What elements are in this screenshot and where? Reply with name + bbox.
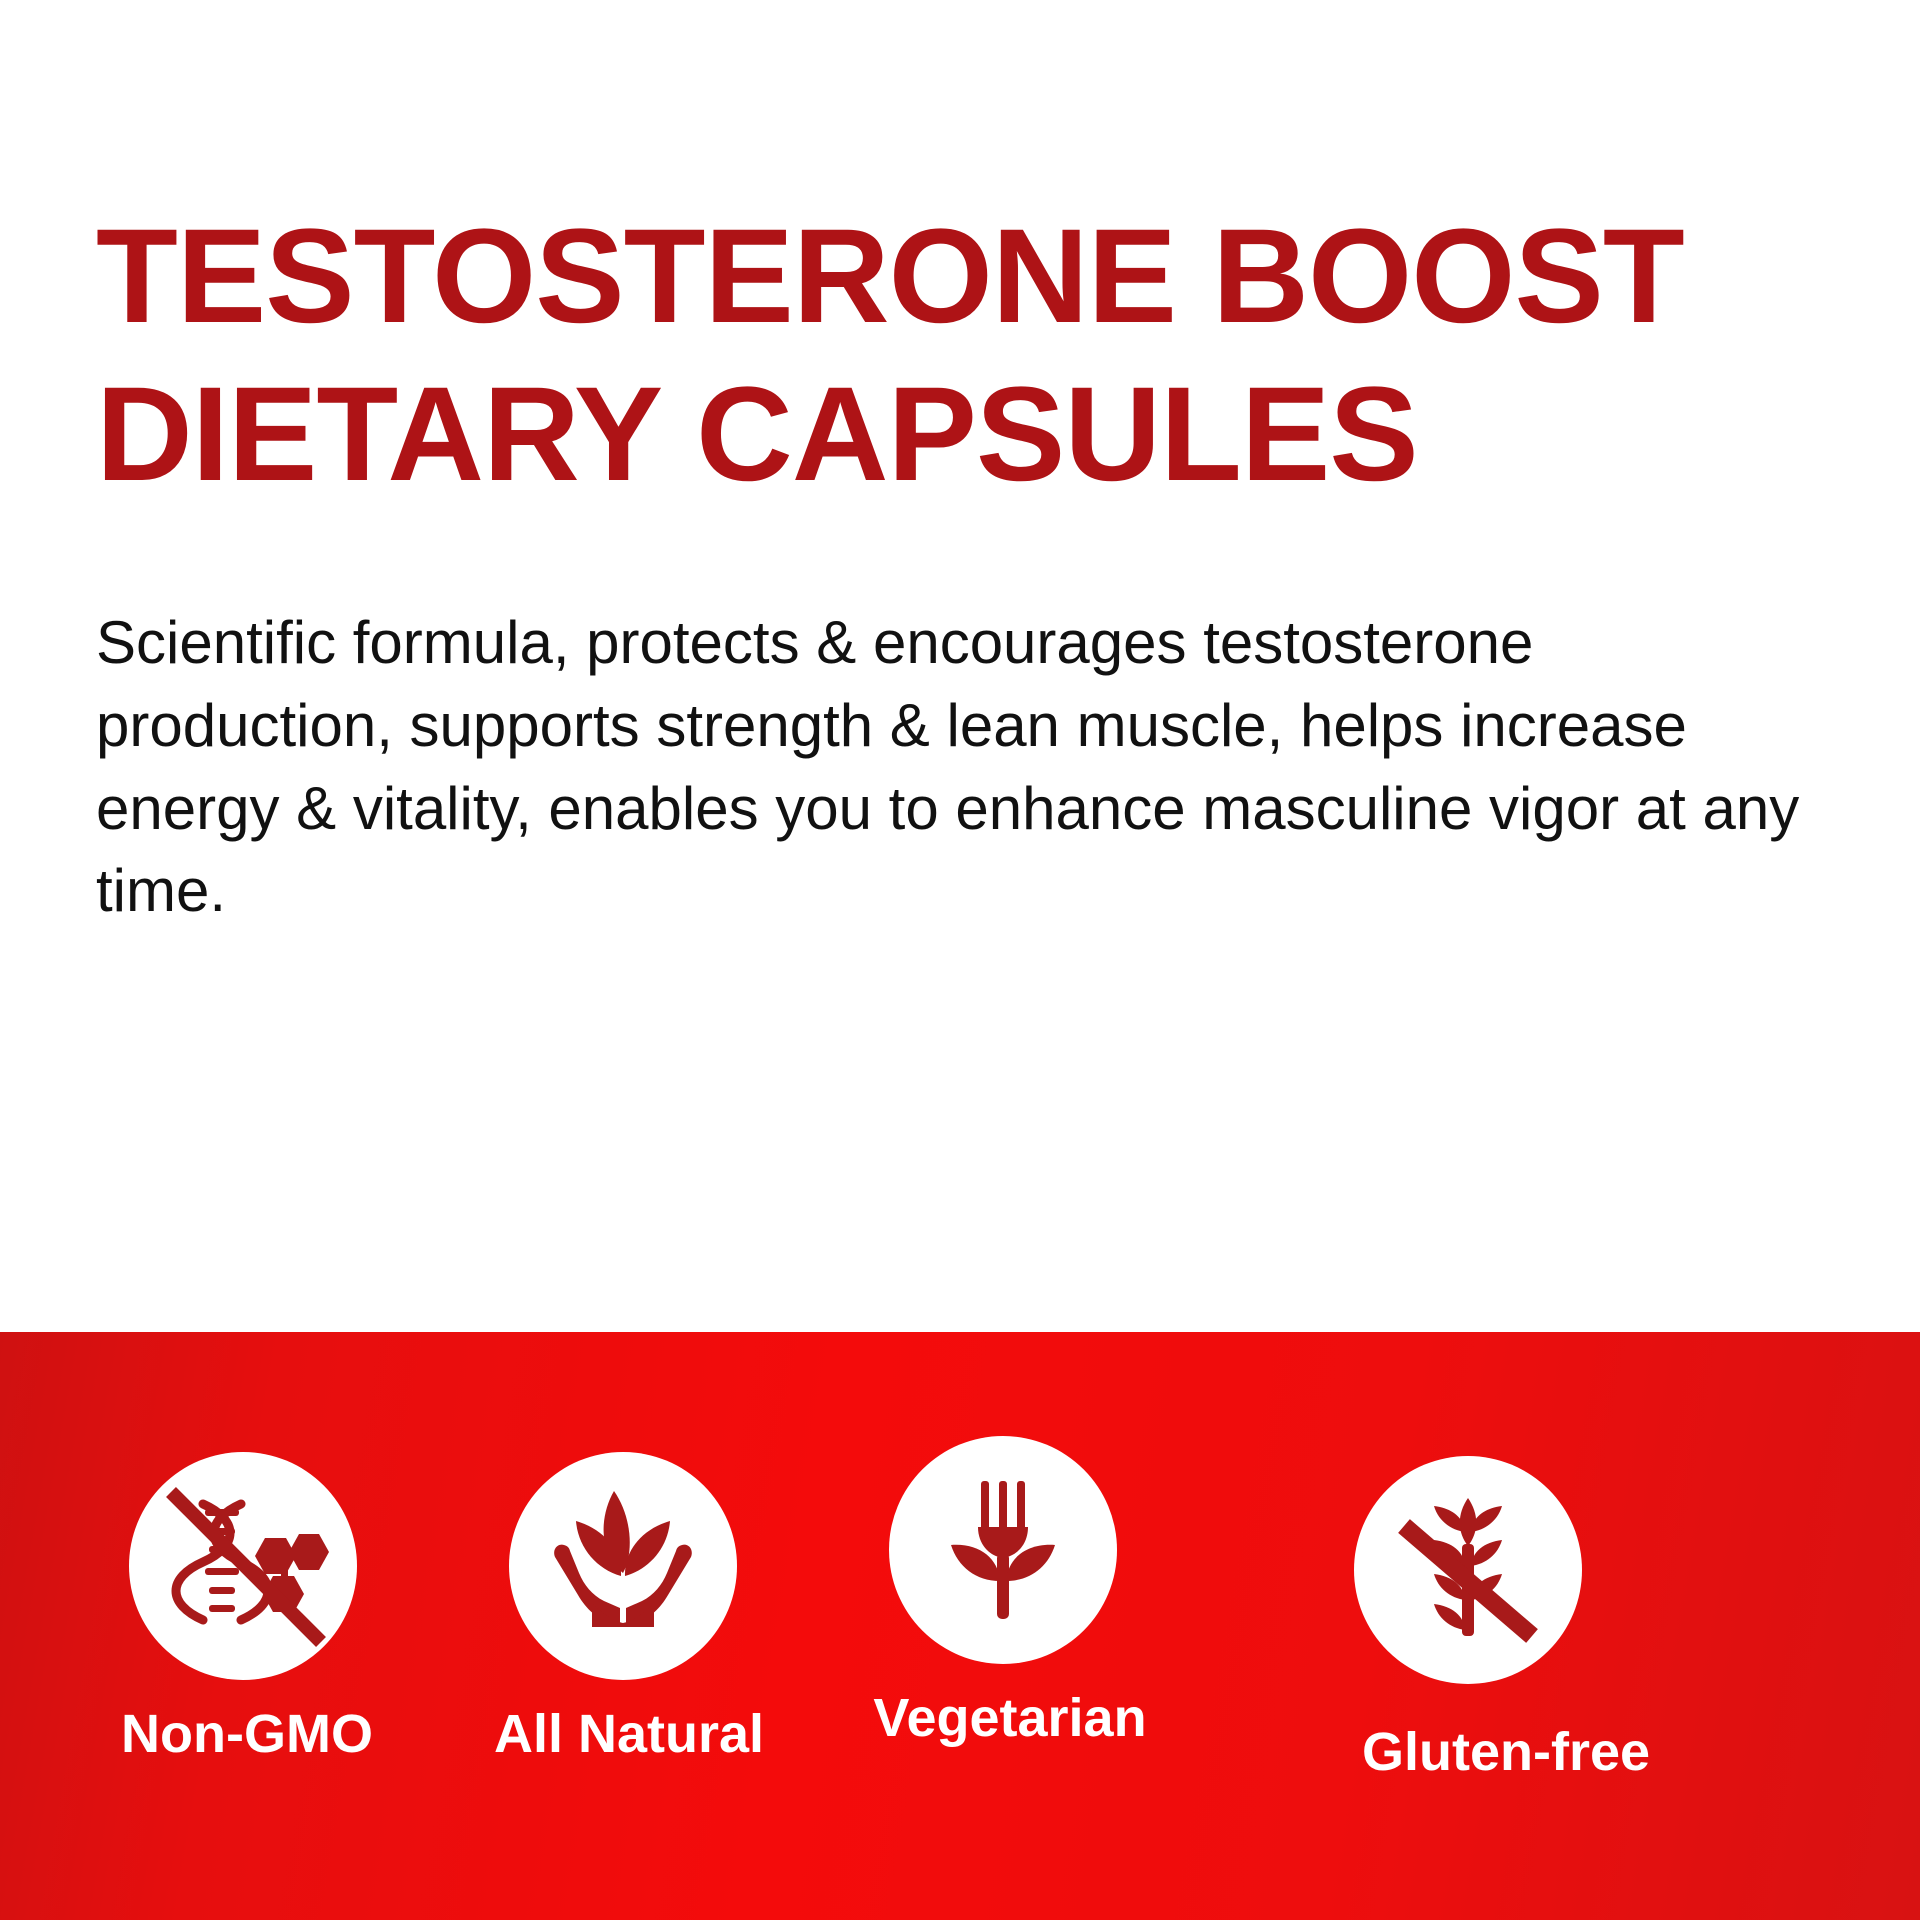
page-title: TESTOSTERONE BOOST DIETARY CAPSULES xyxy=(96,198,1826,514)
badge-circle xyxy=(509,1452,737,1680)
badge-label: Vegetarian xyxy=(872,1690,1148,1747)
badge-gluten-free: Gluten-free xyxy=(1248,1456,1578,1781)
badge-row: Non-GMO xyxy=(0,1332,1920,1920)
badge-label: All Natural xyxy=(490,1706,768,1763)
badge-label: Gluten-free xyxy=(1362,1724,1578,1781)
badge-all-natural: All Natural xyxy=(478,1452,768,1763)
badge-circle xyxy=(129,1452,357,1680)
badge-circle xyxy=(889,1436,1117,1664)
product-infographic: TESTOSTERONE BOOST DIETARY CAPSULES Scie… xyxy=(0,0,1920,1920)
wheat-slashed-icon xyxy=(1382,1484,1554,1656)
dna-molecule-slashed-icon xyxy=(153,1476,333,1656)
hands-holding-leaves-icon xyxy=(534,1477,712,1655)
product-description: Scientific formula, protects & encourage… xyxy=(96,602,1836,933)
fork-with-plant-icon xyxy=(918,1465,1088,1635)
badge-label: Non-GMO xyxy=(106,1706,388,1763)
badge-non-gmo: Non-GMO xyxy=(98,1452,388,1763)
badge-circle xyxy=(1354,1456,1582,1684)
feature-badge-banner: Non-GMO xyxy=(0,1332,1920,1920)
badge-vegetarian: Vegetarian xyxy=(858,1436,1148,1747)
